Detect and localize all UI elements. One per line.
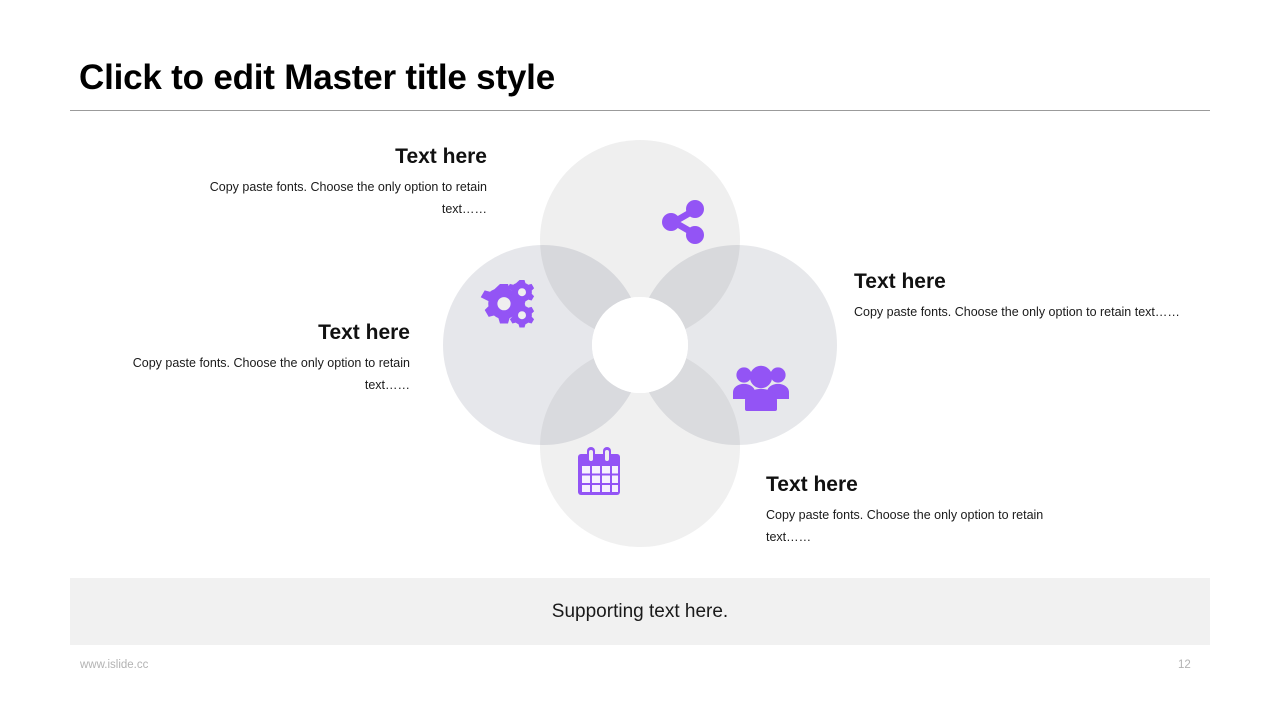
text-block-body[interactable]: Copy paste fonts. Choose the only option… xyxy=(183,177,487,221)
page-number: 12 xyxy=(1178,659,1191,671)
text-block-body[interactable]: Copy paste fonts. Choose the only option… xyxy=(110,353,410,397)
title-divider xyxy=(70,110,1210,111)
calendar-icon xyxy=(576,447,622,502)
text-block-right[interactable]: Text here Copy paste fonts. Choose the o… xyxy=(854,269,1194,324)
text-block-heading[interactable]: Text here xyxy=(766,472,1066,497)
text-block-body[interactable]: Copy paste fonts. Choose the only option… xyxy=(854,302,1194,324)
text-block-heading[interactable]: Text here xyxy=(110,320,410,345)
share-icon xyxy=(661,198,705,251)
footer-url: www.islide.cc xyxy=(80,659,148,671)
text-block-top-left[interactable]: Text here Copy paste fonts. Choose the o… xyxy=(183,144,487,221)
slide-canvas: Click to edit Master title style xyxy=(0,0,1280,720)
page-title[interactable]: Click to edit Master title style xyxy=(79,58,555,98)
supporting-text[interactable]: Supporting text here. xyxy=(552,601,728,623)
text-block-mid-left[interactable]: Text here Copy paste fonts. Choose the o… xyxy=(110,320,410,397)
center-hole xyxy=(592,297,688,393)
supporting-text-bar[interactable]: Supporting text here. xyxy=(70,578,1210,645)
text-block-heading[interactable]: Text here xyxy=(854,269,1194,294)
text-block-body[interactable]: Copy paste fonts. Choose the only option… xyxy=(766,505,1066,549)
text-block-heading[interactable]: Text here xyxy=(183,144,487,169)
people-icon xyxy=(733,363,789,416)
text-block-bottom[interactable]: Text here Copy paste fonts. Choose the o… xyxy=(766,472,1066,549)
gears-icon xyxy=(479,278,537,335)
